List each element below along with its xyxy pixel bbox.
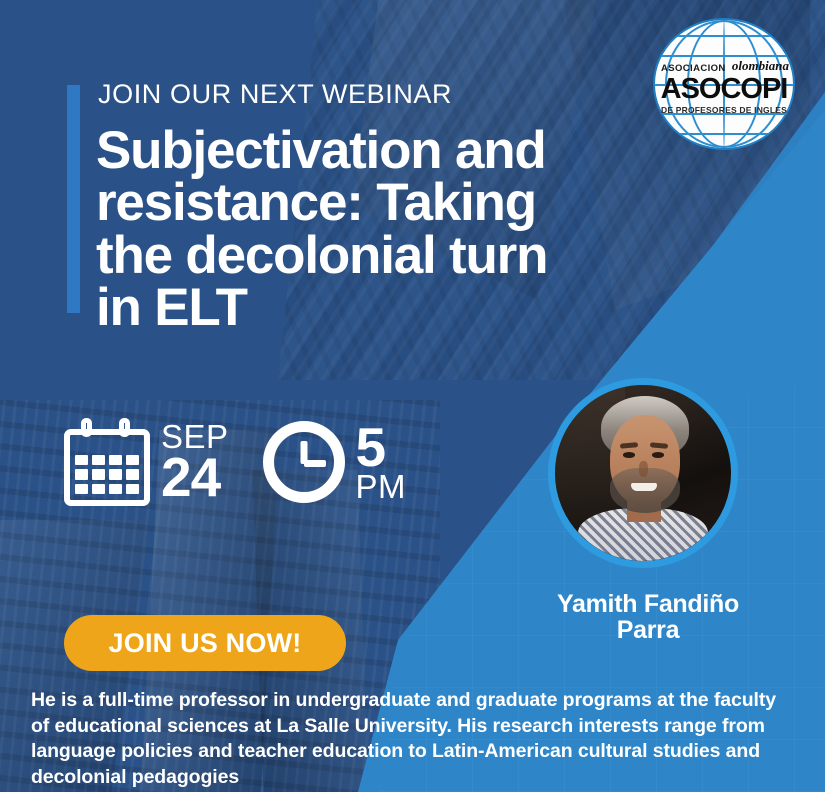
event-date-text: SEP 24 xyxy=(161,422,229,503)
logo-text-block: ASOCIACION olombiana ASOCOPI DE PROFESOR… xyxy=(653,66,795,104)
globe-parallel xyxy=(655,55,793,57)
asocopi-logo: ASOCIACION olombiana ASOCOPI DE PROFESOR… xyxy=(653,18,795,150)
avatar xyxy=(548,378,738,568)
calendar-grid xyxy=(75,455,139,494)
logo-script-text: olombiana xyxy=(732,59,789,72)
page-title: Subjectivation and resistance: Taking th… xyxy=(96,125,626,335)
logo-top-text: ASOCIACION xyxy=(661,64,726,74)
event-hour: 5 xyxy=(356,422,407,473)
headline-line: resistance: Taking xyxy=(96,177,626,229)
event-time: 5 PM xyxy=(263,421,407,503)
logo-bottom-text: DE PROFESORES DE INGLES xyxy=(653,106,795,115)
calendar-body xyxy=(64,429,150,506)
calendar-icon xyxy=(64,418,150,506)
headline-line: the decolonial turn xyxy=(96,230,626,282)
event-day: 24 xyxy=(161,452,229,503)
event-date: SEP 24 xyxy=(64,418,229,506)
speaker-name-line: Parra xyxy=(498,618,798,644)
speaker-bio: He is a full-time professor in undergrad… xyxy=(31,688,791,791)
event-period: PM xyxy=(356,472,407,502)
join-us-now-button[interactable]: JOIN US NOW! xyxy=(64,615,346,671)
headline-line: in ELT xyxy=(96,282,626,334)
clock-minute-hand xyxy=(304,460,326,467)
event-time-text: 5 PM xyxy=(356,422,407,503)
speaker-name: Yamith Fandiño Parra xyxy=(498,592,798,643)
speaker-name-line: Yamith Fandiño xyxy=(498,592,798,618)
headline-accent-bar xyxy=(67,85,80,313)
clock-icon xyxy=(263,421,345,503)
globe-parallel xyxy=(655,133,793,135)
speaker-portrait-image xyxy=(555,385,731,561)
headline-line: Subjectivation and xyxy=(96,125,626,177)
globe-parallel xyxy=(655,35,793,37)
event-datetime: SEP 24 5 PM xyxy=(64,418,406,506)
kicker-text: JOIN OUR NEXT WEBINAR xyxy=(98,79,618,110)
webinar-poster: ASOCIACION olombiana ASOCOPI DE PROFESOR… xyxy=(0,0,825,792)
